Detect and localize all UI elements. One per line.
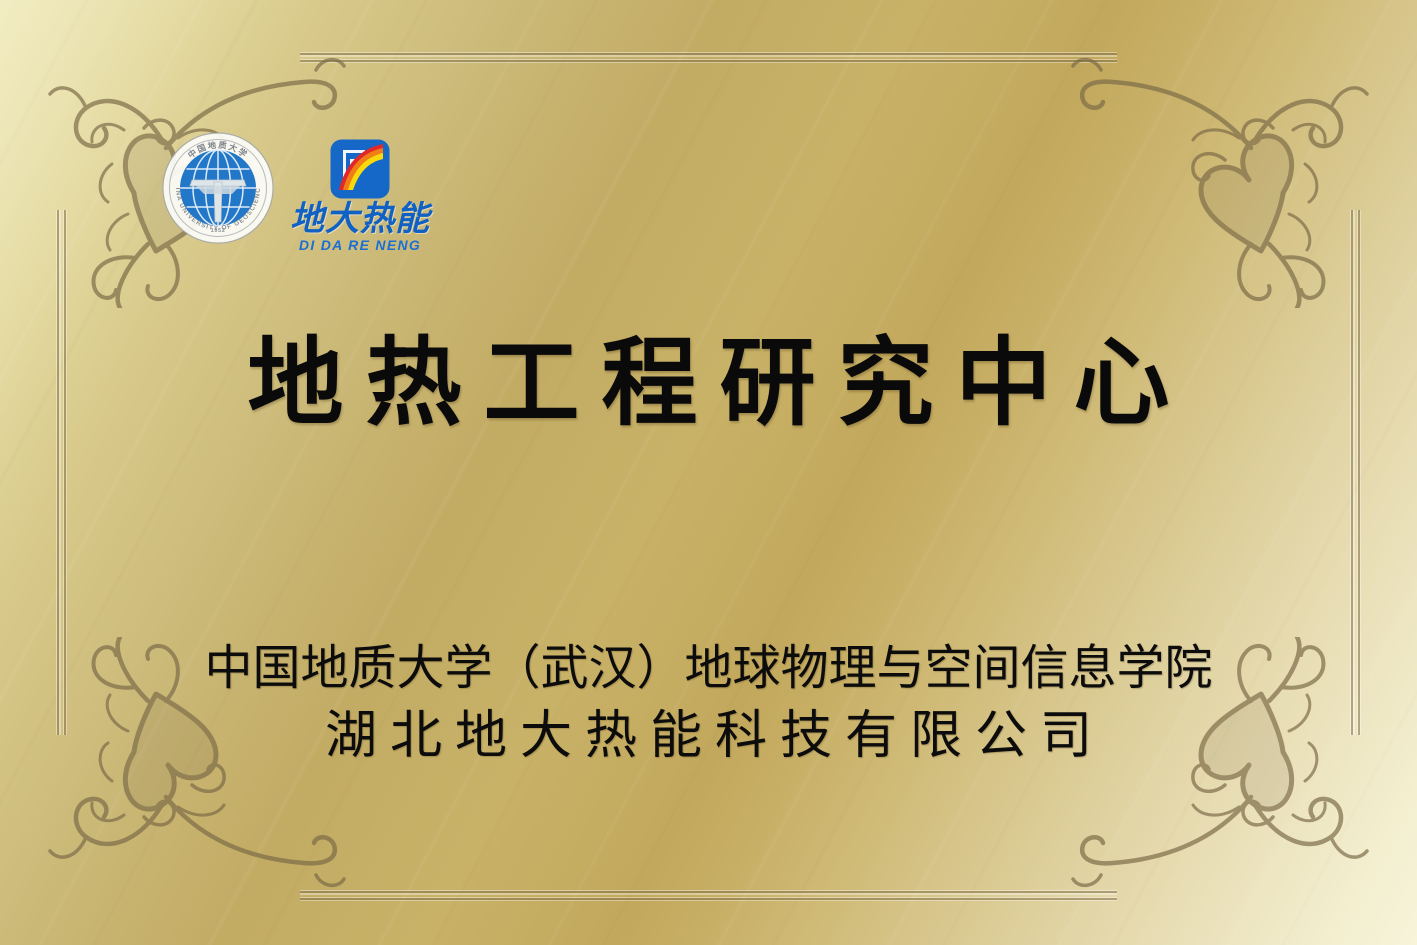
corner-ornament-top-right: [1071, 8, 1401, 308]
didareneng-logo: 地大热能 DI DA RE NENG: [290, 138, 430, 255]
logo-lockup: 中国地质大学 CHINA UNIVERSITY OF GEOSCIENCES 1…: [162, 132, 430, 255]
cug-emblem-icon: 中国地质大学 CHINA UNIVERSITY OF GEOSCIENCES 1…: [162, 132, 274, 244]
didareneng-label-cn: 地大热能: [290, 202, 430, 236]
page-title: 地热工程研究中心: [0, 330, 1417, 438]
didareneng-label-en: DI DA RE NENG: [299, 236, 421, 255]
border-rule-bottom: [300, 890, 1117, 901]
rainbow-swoosh-icon: [329, 138, 391, 200]
svg-text:1952: 1952: [211, 228, 226, 234]
border-rule-top: [300, 52, 1117, 63]
subtitle-line-company: 湖北地大热能科技有限公司: [0, 705, 1417, 767]
subtitle-line-university: 中国地质大学（武汉）地球物理与空间信息学院: [0, 640, 1417, 698]
plaque-root: 中国地质大学 CHINA UNIVERSITY OF GEOSCIENCES 1…: [0, 0, 1417, 945]
